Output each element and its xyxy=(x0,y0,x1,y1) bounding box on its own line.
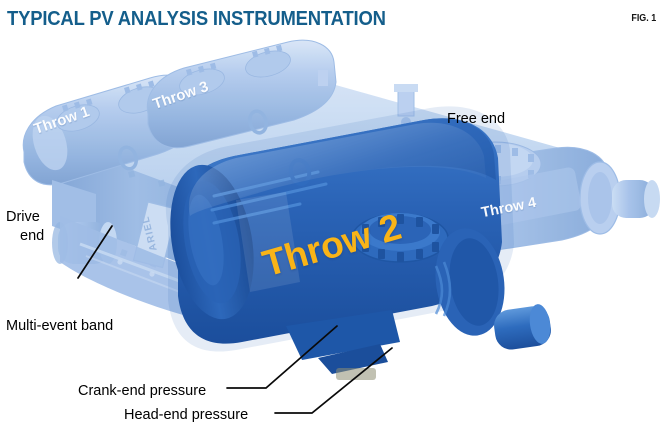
figure-number-label: FIG. 1 xyxy=(631,12,656,24)
valve-cap-flange xyxy=(352,213,448,262)
compressor-drawing xyxy=(0,30,665,422)
figure-container: TYPICAL PV ANALYSIS INSTRUMENTATION FIG.… xyxy=(0,0,665,422)
compressor-illustration: Throw 1 Throw 3 Throw 4 Throw 2 ARIEL Dr… xyxy=(0,30,665,422)
page-title: TYPICAL PV ANALYSIS INSTRUMENTATION xyxy=(7,7,386,31)
